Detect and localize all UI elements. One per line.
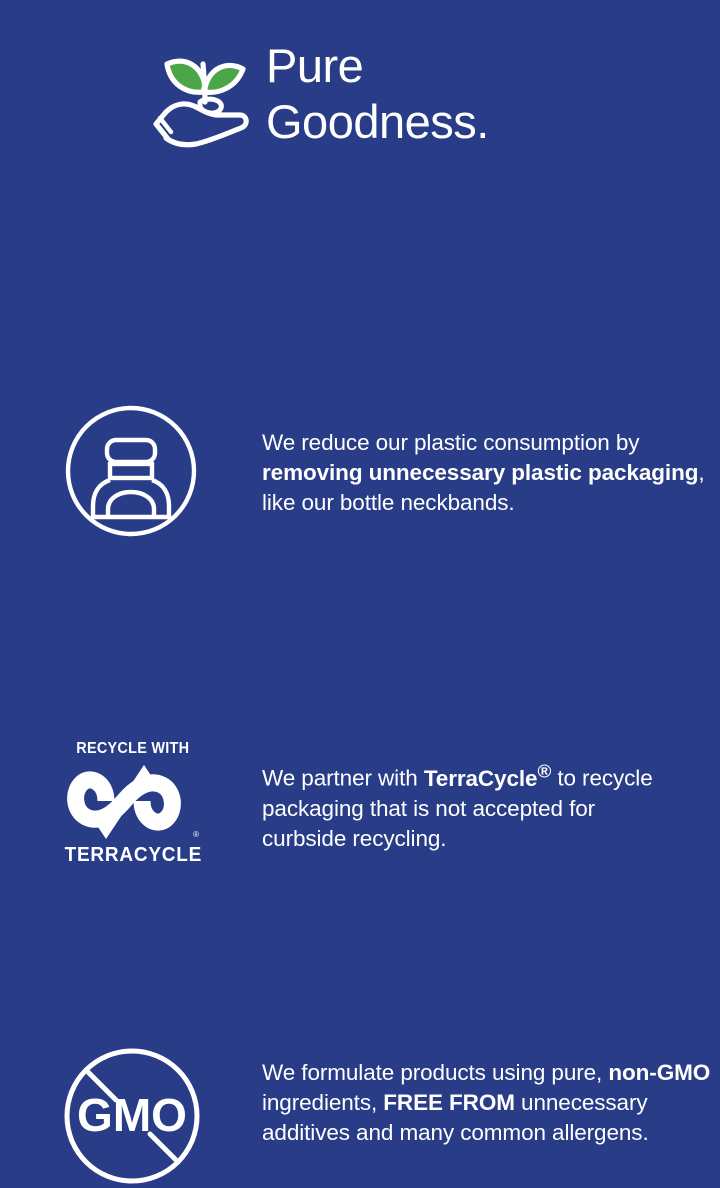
feature-row-gmo: GMO We formulate products using pure, no… xyxy=(0,520,720,680)
feature-row-terracycle: RECYCLE WITH ® TERRACYCLE We partner wit… xyxy=(0,368,720,513)
page-title: Pure Goodness. xyxy=(266,38,489,150)
terracycle-wordmark: TERRACYCLE xyxy=(64,844,201,866)
registered-mark: ® xyxy=(193,831,199,839)
feature-text-terracycle: We partner with TerraCycle® to recycle p… xyxy=(262,756,682,854)
gmo-label: GMO xyxy=(77,1089,187,1141)
feature-text-gmo: We formulate products using pure, non-GM… xyxy=(262,1058,712,1148)
header: Pure Goodness. xyxy=(0,0,720,185)
pure-goodness-infographic: Pure Goodness. We reduce our plastic con… xyxy=(0,0,720,720)
feature-row-plastic: We reduce our plastic consumption by rem… xyxy=(0,200,720,350)
terracycle-top-label: RECYCLE WITH xyxy=(76,740,189,758)
terracycle-logo-icon: RECYCLE WITH ® TERRACYCLE xyxy=(58,738,208,873)
infinity-recycle-arrows-icon: ® xyxy=(58,759,208,843)
hand-holding-sprout-icon xyxy=(148,40,260,152)
no-gmo-icon: GMO xyxy=(62,1044,202,1188)
